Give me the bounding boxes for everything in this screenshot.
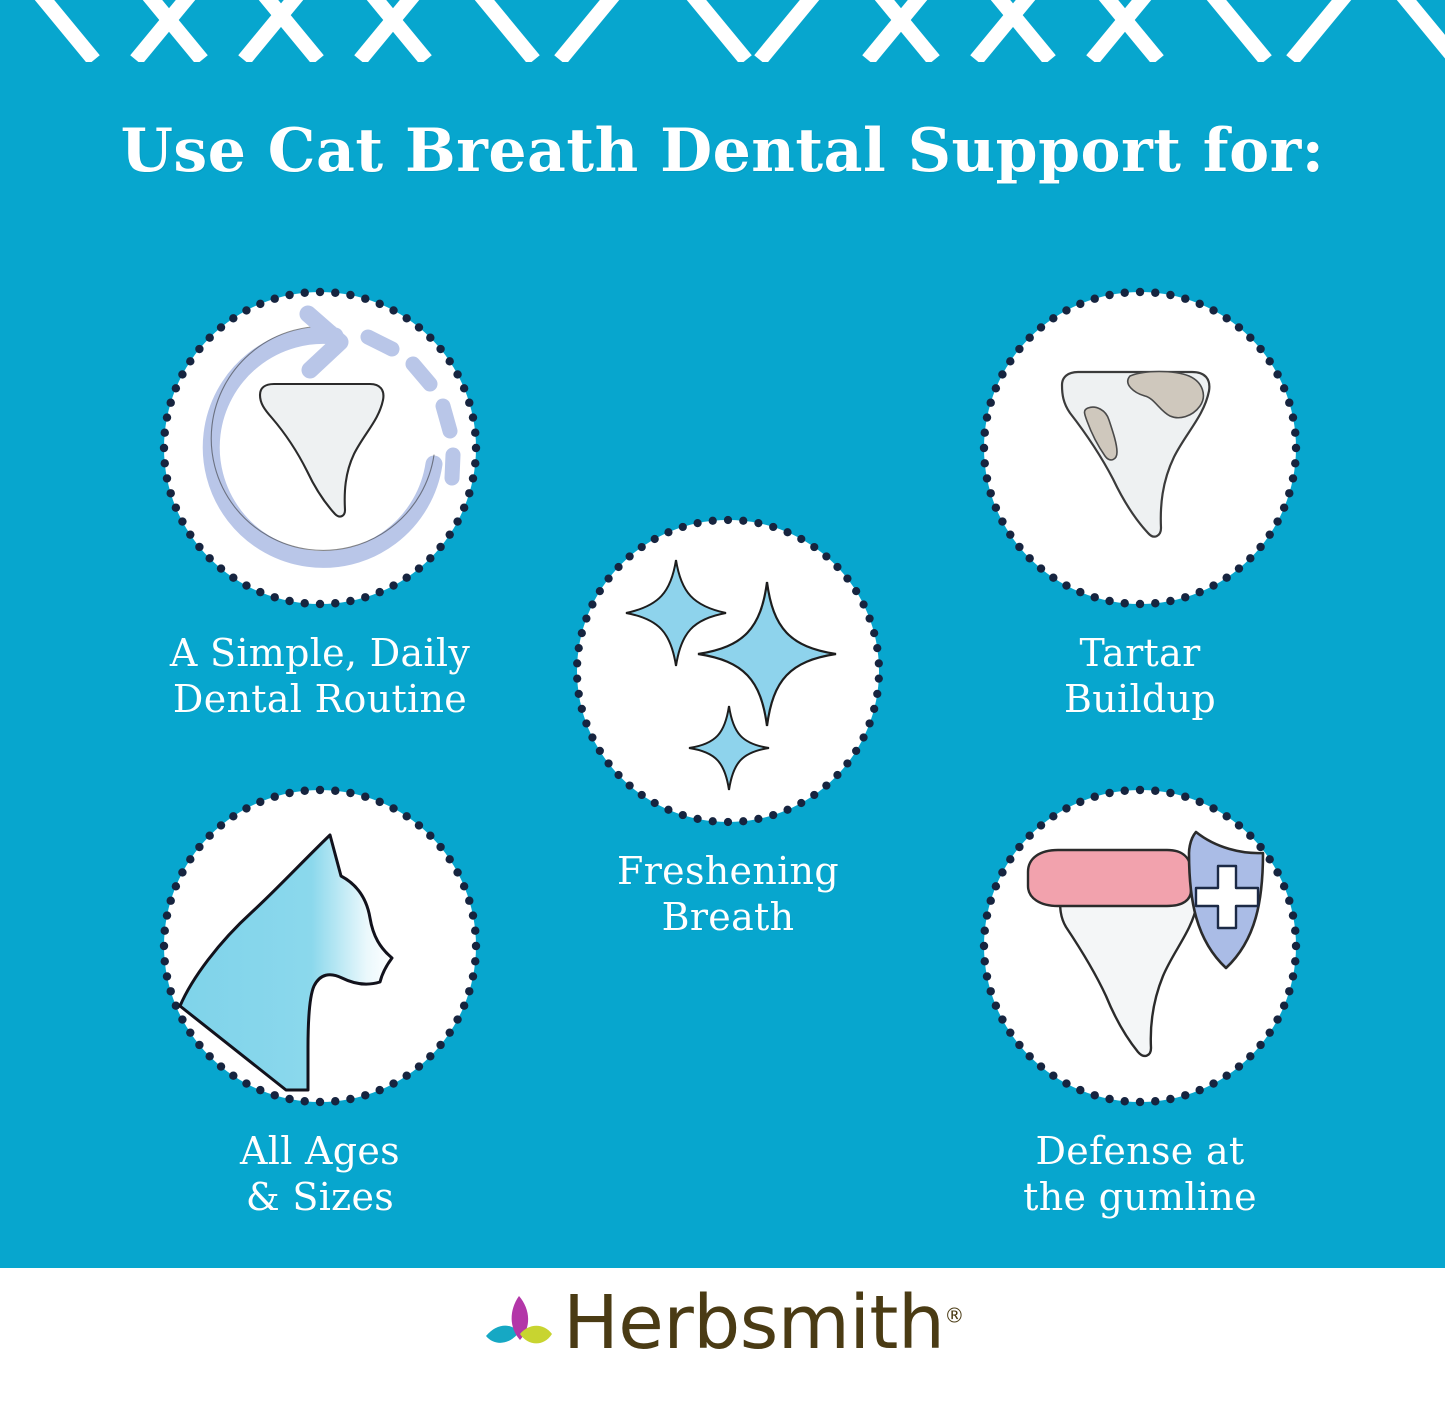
feature-icon-bubble (984, 790, 1296, 1102)
feature-icon-bubble (984, 292, 1296, 604)
brand-wordmark: Herbsmith® (563, 1286, 964, 1360)
cross-stitch-border-icon (0, 0, 1445, 62)
tooth-refresh-arrow-icon (164, 292, 476, 604)
teal-background-panel: Use Cat Breath Dental Support for: (0, 0, 1445, 1268)
footer-bar: Herbsmith® (0, 1268, 1445, 1405)
feature-all-ages-sizes: All Ages & Sizes (60, 790, 580, 1221)
registered-trademark-icon: ® (944, 1303, 964, 1327)
herbsmith-leaves-logo-icon (481, 1292, 559, 1364)
brand-name: Herbsmith (563, 1280, 944, 1366)
infographic-page: Use Cat Breath Dental Support for: (0, 0, 1445, 1405)
sparkles-icon (577, 520, 879, 822)
tooth-tartar-icon (984, 292, 1296, 604)
feature-caption: Defense at the gumline (880, 1128, 1400, 1221)
feature-gumline-defense: Defense at the gumline (880, 790, 1400, 1221)
cat-head-silhouette-icon (164, 790, 476, 1102)
page-title: Use Cat Breath Dental Support for: (0, 120, 1445, 183)
feature-icon-bubble (164, 790, 476, 1102)
feature-caption: All Ages & Sizes (60, 1128, 580, 1221)
feature-icon-bubble (577, 520, 879, 822)
tooth-gum-shield-icon (984, 790, 1296, 1102)
feature-icon-bubble (164, 292, 476, 604)
brand-logo: Herbsmith® (0, 1286, 1445, 1360)
